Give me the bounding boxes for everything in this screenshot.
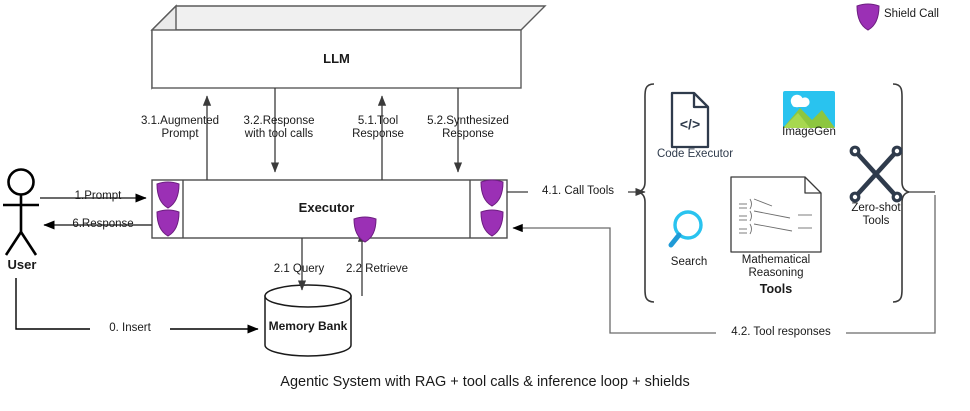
formula-document-icon: [731, 177, 821, 252]
tool-label-mathematical-reasoning: Mathematical Reasoning: [727, 254, 825, 280]
edge-label-3-2: 3.2.Response with tool calls: [234, 115, 324, 141]
edge-label-5-2-line2: Response: [420, 128, 516, 141]
tools-group-label: Tools: [726, 283, 826, 296]
edge-label-2-2-retrieve: 2.2 Retrieve: [333, 263, 421, 276]
magnifier-icon: [671, 212, 701, 245]
edge-label-1-prompt: 1.Prompt: [55, 190, 141, 203]
edge-label-5-1-line2: Response: [342, 128, 414, 141]
edge-label-5-1-line1: 5.1.Tool: [342, 115, 414, 128]
diagram-canvas: </>: [0, 0, 970, 411]
tool-label-imagegen: ImageGen: [768, 126, 850, 139]
user-label: User: [0, 258, 52, 271]
edge-label-4-1-call-tools: 4.1. Call Tools: [528, 185, 628, 198]
edge-label-3-1: 3.1.Augmented Prompt: [140, 115, 220, 141]
edge-label-2-1-query: 2.1 Query: [262, 263, 336, 276]
memory-bank-label: Memory Bank: [263, 320, 353, 333]
legend-shield-label: Shield Call: [884, 8, 970, 21]
edge-label-3-2-line2: with tool calls: [234, 128, 324, 141]
tool-label-zero-shot-line2: Tools: [841, 215, 911, 228]
tool-label-search: Search: [659, 256, 719, 269]
edge-label-5-2: 5.2.Synthesized Response: [420, 115, 516, 141]
edge-label-5-1: 5.1.Tool Response: [342, 115, 414, 141]
tools-group-brace-left: [638, 84, 654, 302]
shield-icon-legend: [857, 4, 879, 30]
llm-label: LLM: [152, 52, 521, 65]
edge-label-3-2-line1: 3.2.Response: [234, 115, 324, 128]
svg-text:</>: </>: [680, 116, 700, 132]
executor-label: Executor: [183, 201, 470, 214]
diagram-caption: Agentic System with RAG + tool calls & i…: [0, 376, 970, 389]
crossed-wrenches-icon: [856, 152, 896, 196]
tool-label-math-line2: Reasoning: [727, 267, 825, 280]
tool-label-math-line1: Mathematical: [727, 254, 825, 267]
llm-node[interactable]: [152, 6, 545, 88]
tool-label-zero-shot-line1: Zero-shot: [841, 202, 911, 215]
edge-label-0-insert: 0. Insert: [90, 322, 170, 335]
edge-label-5-2-line1: 5.2.Synthesized: [420, 115, 516, 128]
edge-label-4-2-tool-responses: 4.2. Tool responses: [716, 326, 846, 339]
image-picture-icon: [783, 91, 835, 128]
user-node[interactable]: [3, 170, 39, 256]
tool-label-code-executor: Code Executor: [645, 148, 745, 161]
edge-label-6-response: 6.Response: [53, 218, 153, 231]
edge-label-3-1-line1: 3.1.Augmented: [140, 115, 220, 128]
edge-label-3-1-line2: Prompt: [140, 128, 220, 141]
tool-label-zero-shot-tools: Zero-shot Tools: [841, 202, 911, 228]
code-document-icon: </>: [672, 93, 708, 147]
